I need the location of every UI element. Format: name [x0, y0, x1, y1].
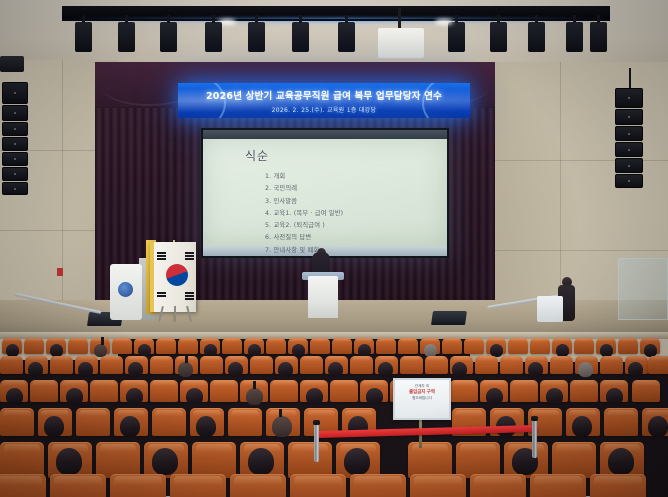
list-item: 6. 사전질의 답변	[265, 232, 447, 244]
korean-flag-icon	[150, 242, 196, 312]
stage-light-icon	[566, 22, 583, 52]
stanchion-top	[531, 416, 538, 421]
stage-light-icon	[75, 22, 92, 52]
stage-light-on-icon	[435, 19, 453, 25]
projection-screen: 식순 1. 개회 2. 국민의례 3. 인사말씀 4. 교육1. (복무 · 급…	[201, 128, 449, 258]
stage-monitor-speaker	[431, 311, 467, 325]
stage-light-icon	[292, 22, 309, 52]
side-table	[537, 296, 563, 322]
list-item: 2. 국민의례	[265, 183, 447, 195]
slide-agenda-list: 1. 개회 2. 국민의례 3. 인사말씀 4. 교육1. (복무 · 급여 일…	[265, 171, 447, 257]
wall-speaker-icon	[0, 56, 24, 72]
slide-body: 식순 1. 개회 2. 국민의례 3. 인사말씀 4. 교육1. (복무 · 급…	[203, 139, 447, 246]
list-item: 1. 개회	[265, 171, 447, 183]
stage-light-icon	[590, 22, 607, 52]
list-item: 3. 인사말씀	[265, 196, 447, 208]
stage-light-icon	[448, 22, 465, 52]
wall-seam	[470, 250, 668, 251]
stage-light-icon	[248, 22, 265, 52]
line-array-speaker-left	[2, 82, 28, 196]
projector-mount	[398, 8, 401, 30]
taeguk-symbol-icon	[166, 264, 188, 286]
stage-light-icon	[160, 22, 177, 52]
list-item: 5. 교육2. (퇴직급여 )	[265, 220, 447, 232]
stage-light-icon	[528, 22, 545, 52]
exit-marker	[57, 268, 63, 276]
banner-title: 2026년 상반기 교육공무직원 급여 복무 업무담당자 연수	[206, 88, 442, 102]
flag-tripod	[160, 306, 190, 322]
stanchion-post	[532, 420, 537, 458]
podium-emblem-icon	[118, 282, 133, 297]
slide-title: 식순	[245, 147, 447, 164]
lectern	[308, 276, 338, 318]
led-banner: 2026년 상반기 교육공무직원 급여 복무 업무담당자 연수 2026. 2.…	[178, 83, 470, 118]
stanchion-top	[313, 420, 320, 425]
line-array-speaker-right	[615, 88, 643, 189]
auditorium-scene: 2026년 상반기 교육공무직원 급여 복무 업무담당자 연수 2026. 2.…	[0, 0, 668, 497]
banner-subtitle: 2026. 2. 25.(수). 교육원 1층 대강당	[272, 105, 377, 114]
stage-light-icon	[205, 22, 222, 52]
list-item: 7. 안내사항 및 폐회	[265, 245, 447, 257]
ceiling-projector	[378, 28, 424, 58]
stage-light-icon	[490, 22, 507, 52]
glass-railing	[618, 258, 668, 320]
stanchion-post	[314, 424, 319, 462]
notice-sign-line3: 협조바랍니다	[398, 396, 446, 401]
notice-sign: 관계자 외 출입금지 구역 협조바랍니다	[393, 378, 451, 420]
list-item: 4. 교육1. (복무 · 급여 일반)	[265, 208, 447, 220]
truss-lower-bar	[62, 19, 610, 21]
audience-seating: 354 357 358 362 338	[0, 338, 668, 497]
stage-light-icon	[118, 22, 135, 52]
slide-top-band	[203, 130, 447, 139]
stage-light-icon	[338, 22, 355, 52]
